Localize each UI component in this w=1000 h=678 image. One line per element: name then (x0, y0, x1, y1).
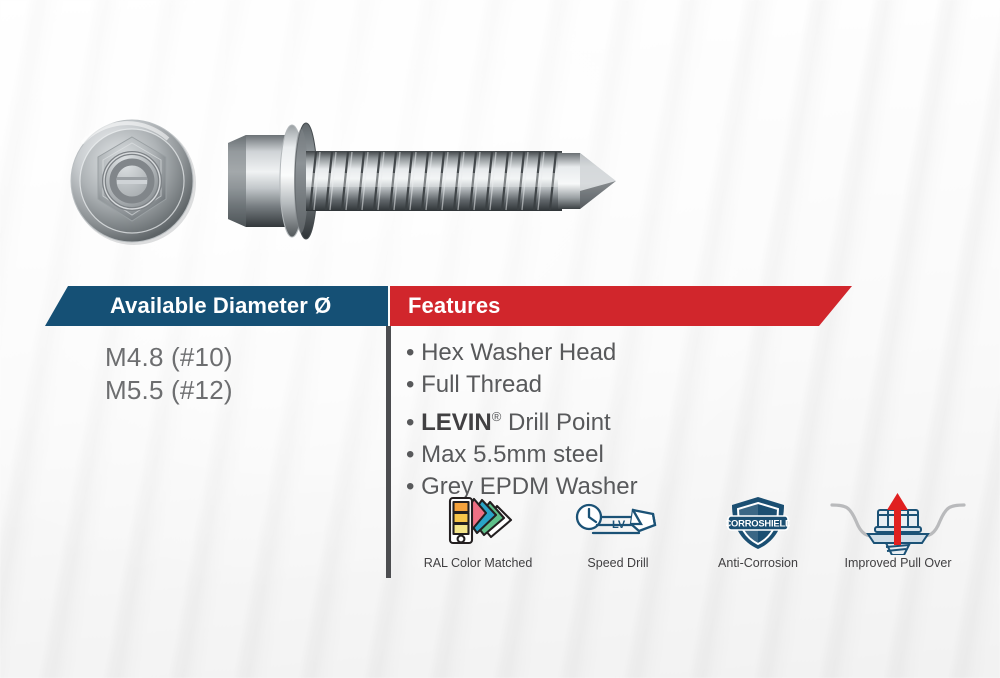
diameter-value: M5.5 (#12) (105, 374, 233, 407)
feature-text: Hex Washer Head (421, 339, 616, 366)
bullet-icon: • (406, 409, 414, 436)
feature-brand: LEVIN (421, 409, 492, 436)
bullet-icon: • (406, 371, 414, 398)
speed-drill-badge-text: LV (612, 519, 626, 531)
feature-text: Full Thread (421, 371, 542, 398)
benefit-caption: Speed Drill (587, 556, 648, 570)
bullet-icon: • (406, 339, 414, 366)
features-header-bar: Features (390, 286, 852, 326)
benefit-caption: Improved Pull Over (845, 556, 952, 570)
feature-item: • Full Thread (406, 369, 638, 401)
benefit-ral-color-matched: RAL Color Matched (408, 492, 548, 582)
section-header-bars: Available Diameter Ø Features (0, 286, 1000, 326)
corroshield-badge-text: CORROSHIELD (726, 518, 790, 529)
feature-item: • LEVIN® Drill Point (406, 401, 638, 439)
improved-pull-over-icon (830, 492, 966, 554)
diameter-header-bar: Available Diameter Ø (45, 286, 388, 326)
feature-item: • Max 5.5mm steel (406, 439, 638, 471)
diameter-header-label: Available Diameter Ø (110, 293, 331, 319)
benefit-icon-row: RAL Color Matched LV Speed Drill (408, 492, 968, 582)
column-divider (386, 326, 391, 578)
feature-text: Max 5.5mm steel (421, 441, 604, 468)
diameter-list: M4.8 (#10) M5.5 (#12) (105, 341, 233, 407)
feature-item: • Hex Washer Head (406, 337, 638, 369)
features-header-label: Features (408, 293, 501, 319)
feature-text: Drill Point (501, 409, 610, 436)
benefit-anti-corrosion: CORROSHIELD Anti-Corrosion (688, 492, 828, 582)
screw-head-top-view (71, 120, 196, 245)
benefit-speed-drill: LV Speed Drill (548, 492, 688, 582)
product-image (60, 95, 620, 270)
benefit-improved-pull-over: Improved Pull Over (828, 492, 968, 582)
corroshield-shield-icon: CORROSHIELD (726, 492, 790, 554)
screw-side-view (228, 123, 616, 239)
benefit-caption: RAL Color Matched (424, 556, 533, 570)
speed-drill-icon: LV (575, 492, 661, 554)
diameter-value: M4.8 (#10) (105, 341, 233, 374)
bullet-icon: • (406, 441, 414, 468)
benefit-caption: Anti-Corrosion (718, 556, 798, 570)
features-list: • Hex Washer Head • Full Thread • LEVIN®… (406, 337, 638, 503)
registered-trademark-icon: ® (492, 409, 502, 424)
ral-color-fan-icon (441, 492, 515, 554)
